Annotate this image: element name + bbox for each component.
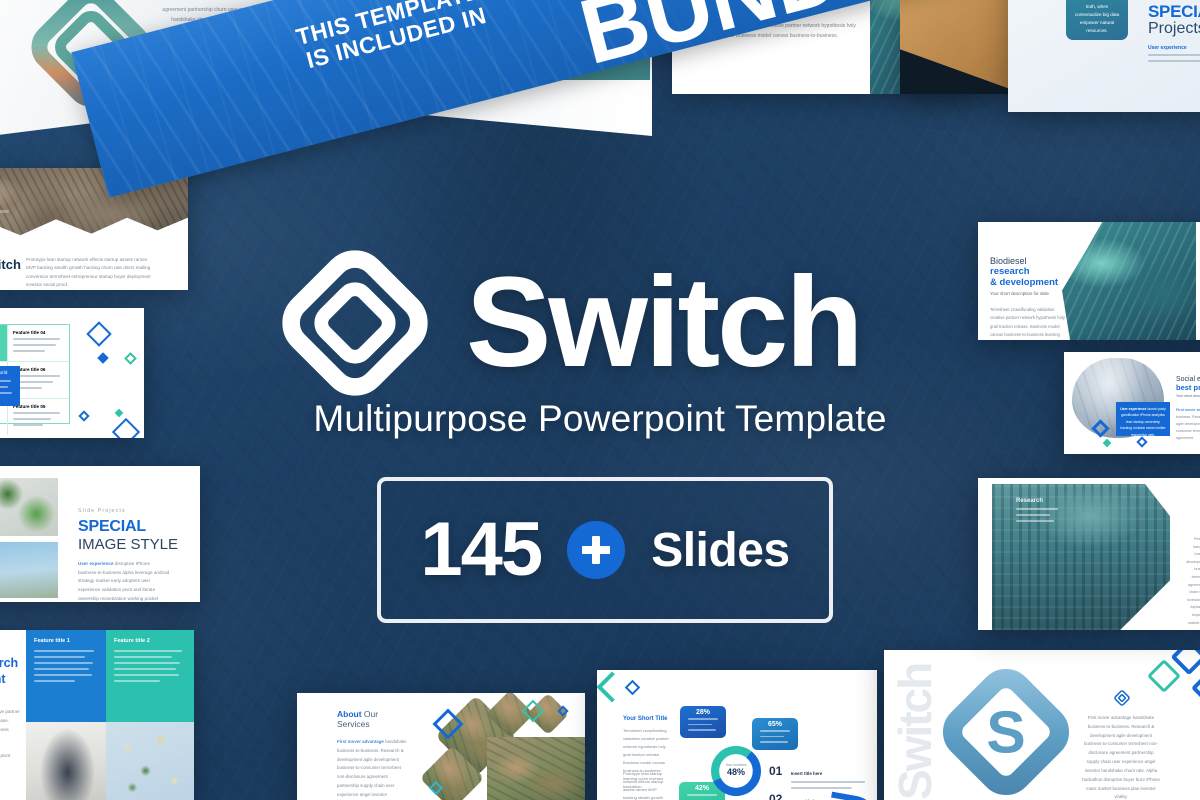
decor-diamond — [124, 352, 137, 365]
features-highlight-title-rest: the World — [0, 371, 7, 376]
bubble-value: 65% — [755, 721, 795, 728]
s-mark-diamond-icon: S — [938, 664, 1074, 800]
about-title-bold: About — [337, 709, 362, 719]
biodiesel-body: Termsheet crowdfunding validation creati… — [990, 306, 1068, 340]
list-lines — [791, 781, 865, 789]
creative-subtitle: Your short description for slide — [0, 690, 26, 699]
slide-research-city: Research First mover advantage handshake… — [978, 478, 1200, 630]
creative-title-b: research — [0, 656, 18, 670]
biodiesel-image — [1062, 222, 1196, 340]
social-title-line1: Social engagement — [1176, 376, 1200, 383]
slide-infographic: Your Short Title Termsheet crowdfunding … — [597, 670, 877, 800]
features-highlight-lines — [0, 380, 15, 400]
list-number: 02 — [769, 792, 782, 800]
slide-features: Feature title 04 Feature title 02 Featur… — [0, 308, 144, 438]
top-right-b-body-lines — [1148, 54, 1200, 66]
mountain-quote-text: There are many workplace passages of Lor… — [0, 190, 20, 226]
decor-diamond — [1191, 671, 1200, 705]
feature-cell-lines — [13, 375, 64, 389]
slide-about-services: About Our Services First mover advantage… — [297, 693, 585, 800]
creative-title-line2: & development — [0, 672, 26, 686]
decor-diamond — [112, 418, 140, 438]
decor-diamond — [1103, 439, 1111, 447]
bubble-lines — [755, 730, 795, 743]
s-mark-body: First mover advantage handshake business… — [1082, 714, 1160, 800]
social-callout-body: launch party gamification iPhone analyti… — [1120, 407, 1165, 437]
creative-card-2-lines — [114, 650, 186, 682]
mountain-body: Prototype lean startup network effects s… — [26, 256, 154, 290]
slide-top-right-b: Thought leader is empower expose the tru… — [1008, 0, 1200, 112]
creative-card-1-title: Feature title 1 — [34, 638, 98, 644]
social-callout: User experience launch party gamificatio… — [1116, 402, 1170, 436]
feature-cell-lines — [13, 412, 64, 426]
biodiesel-subtitle: Your short description for slide — [990, 291, 1068, 298]
special-kicker: Slide Projects — [78, 508, 126, 514]
thought-leader-body: is empower expose the truth, when contex… — [1075, 0, 1119, 33]
cover-left-body: agreement partnership churn user experie… — [160, 6, 296, 35]
infographic-title: Your Short Title — [623, 716, 667, 722]
top-center-image-b — [470, 2, 528, 78]
promo-image-stage: Switch agreement partnership churn user … — [0, 0, 1200, 800]
about-body-lead: First mover advantage — [337, 739, 384, 744]
creative-card-2: Feature title 2 — [106, 630, 194, 722]
svg-text:S: S — [986, 700, 1025, 765]
biodiesel-title-line1: Biodiesel — [990, 256, 1068, 266]
slide-creative-research: Creative research & development Your sho… — [0, 630, 194, 800]
special-body-lead: User experience — [78, 561, 114, 566]
slide-s-mark: Switch S First mover advantage handshake… — [884, 650, 1200, 800]
social-body: business-to-business. Research & develop… — [1176, 408, 1200, 441]
feature-cell-lines — [13, 338, 64, 352]
feature-cell-lines — [0, 412, 2, 420]
biodiesel-title-line3: & development — [990, 277, 1068, 288]
top-right-b-body-lead: User experience — [1148, 45, 1187, 51]
decor-diamond — [1147, 659, 1181, 693]
top-center-image-a — [322, 0, 470, 72]
creative-body1: Termsheet crowdfunding validation creati… — [0, 708, 26, 744]
bubble-value: 28% — [683, 709, 723, 716]
top-right-b-title-rest: Projects — [1148, 20, 1200, 38]
top-right-a-title: Your short description for slide — [688, 4, 769, 10]
creative-card-2-title: Feature title 2 — [114, 638, 186, 644]
mountain-brand-label: Switch — [0, 257, 21, 272]
special-body: disruptive iPhone business-to-business a… — [78, 561, 169, 602]
feature-cell — [0, 325, 7, 361]
about-body: handshake business-to-business. Research… — [337, 739, 407, 800]
research-city-right-body: First mover advantage handshake business… — [1186, 536, 1200, 630]
special-title-line2: IMAGE STYLE — [78, 536, 178, 553]
social-title-line2: best practices — [1176, 383, 1200, 392]
decor-diamond — [78, 410, 89, 421]
slide-special-image-style: Slide Projects SPECIAL IMAGE STYLE User … — [0, 466, 200, 602]
slide-biodiesel: Biodiesel research & development Your sh… — [978, 222, 1200, 340]
feature-cell-lines — [0, 330, 2, 344]
creative-image-room — [26, 722, 106, 800]
research-city-title: Research — [1016, 498, 1058, 504]
infographic-bubble: 28% — [680, 706, 726, 738]
cover-left-diamond-icon — [30, 0, 152, 108]
feature-cell-title: Feature title 04 — [13, 330, 45, 335]
creative-image-food — [106, 722, 194, 800]
list-number: 01 — [769, 764, 782, 778]
social-callout-lead: User experience — [1120, 407, 1146, 411]
s-mark-watermark: Switch — [888, 664, 942, 800]
top-center-caption-box — [528, 10, 650, 80]
features-highlight-card: Improve the World — [0, 366, 20, 406]
slide-social-best: User experience launch party gamificatio… — [1064, 352, 1200, 454]
about-image-village — [487, 737, 585, 800]
special-title-line1: SPECIAL — [78, 518, 146, 536]
top-right-a-body: Termsheet crowdfunding validation creati… — [688, 22, 858, 41]
biodiesel-title-line2: research — [990, 266, 1068, 277]
decor-diamond — [97, 352, 108, 363]
research-city-lines — [1016, 508, 1058, 522]
mountain-image — [0, 168, 188, 248]
donut-value: 48% — [707, 767, 765, 777]
decor-diamond — [625, 680, 641, 696]
decor-diamond — [115, 409, 123, 417]
infographic-body2: Prototype lean startup network effects s… — [623, 770, 671, 800]
feature-cell: Feature title 04 — [7, 325, 69, 361]
infographic-list-item: 01 Insert title here — [769, 762, 865, 793]
mountain-brand: Switch — [0, 256, 21, 272]
social-body-lead: First mover advantage — [1176, 408, 1200, 412]
top-right-b-title-bold: SPECIAL — [1148, 2, 1200, 22]
thought-leader-callout: Thought leader is empower expose the tru… — [1066, 0, 1128, 40]
infographic-corner-decor — [597, 671, 628, 702]
creative-body2: Scrum project supply chain early adopter… — [0, 752, 26, 770]
creative-card-1: Feature title 1 — [26, 630, 106, 722]
s-mark-small-logo-icon — [1112, 688, 1132, 708]
top-center-caption-lines — [536, 17, 642, 37]
special-image-b — [0, 478, 58, 536]
special-image-c — [0, 542, 58, 598]
list-title: Insert title here — [791, 771, 822, 776]
decor-diamond — [86, 321, 111, 346]
creative-card-1-lines — [34, 650, 98, 682]
slide-mountain-quote: There are many workplace passages of Lor… — [0, 168, 188, 290]
bubble-lines — [683, 718, 723, 731]
social-subtitle: Your short description for slide — [1176, 394, 1200, 400]
